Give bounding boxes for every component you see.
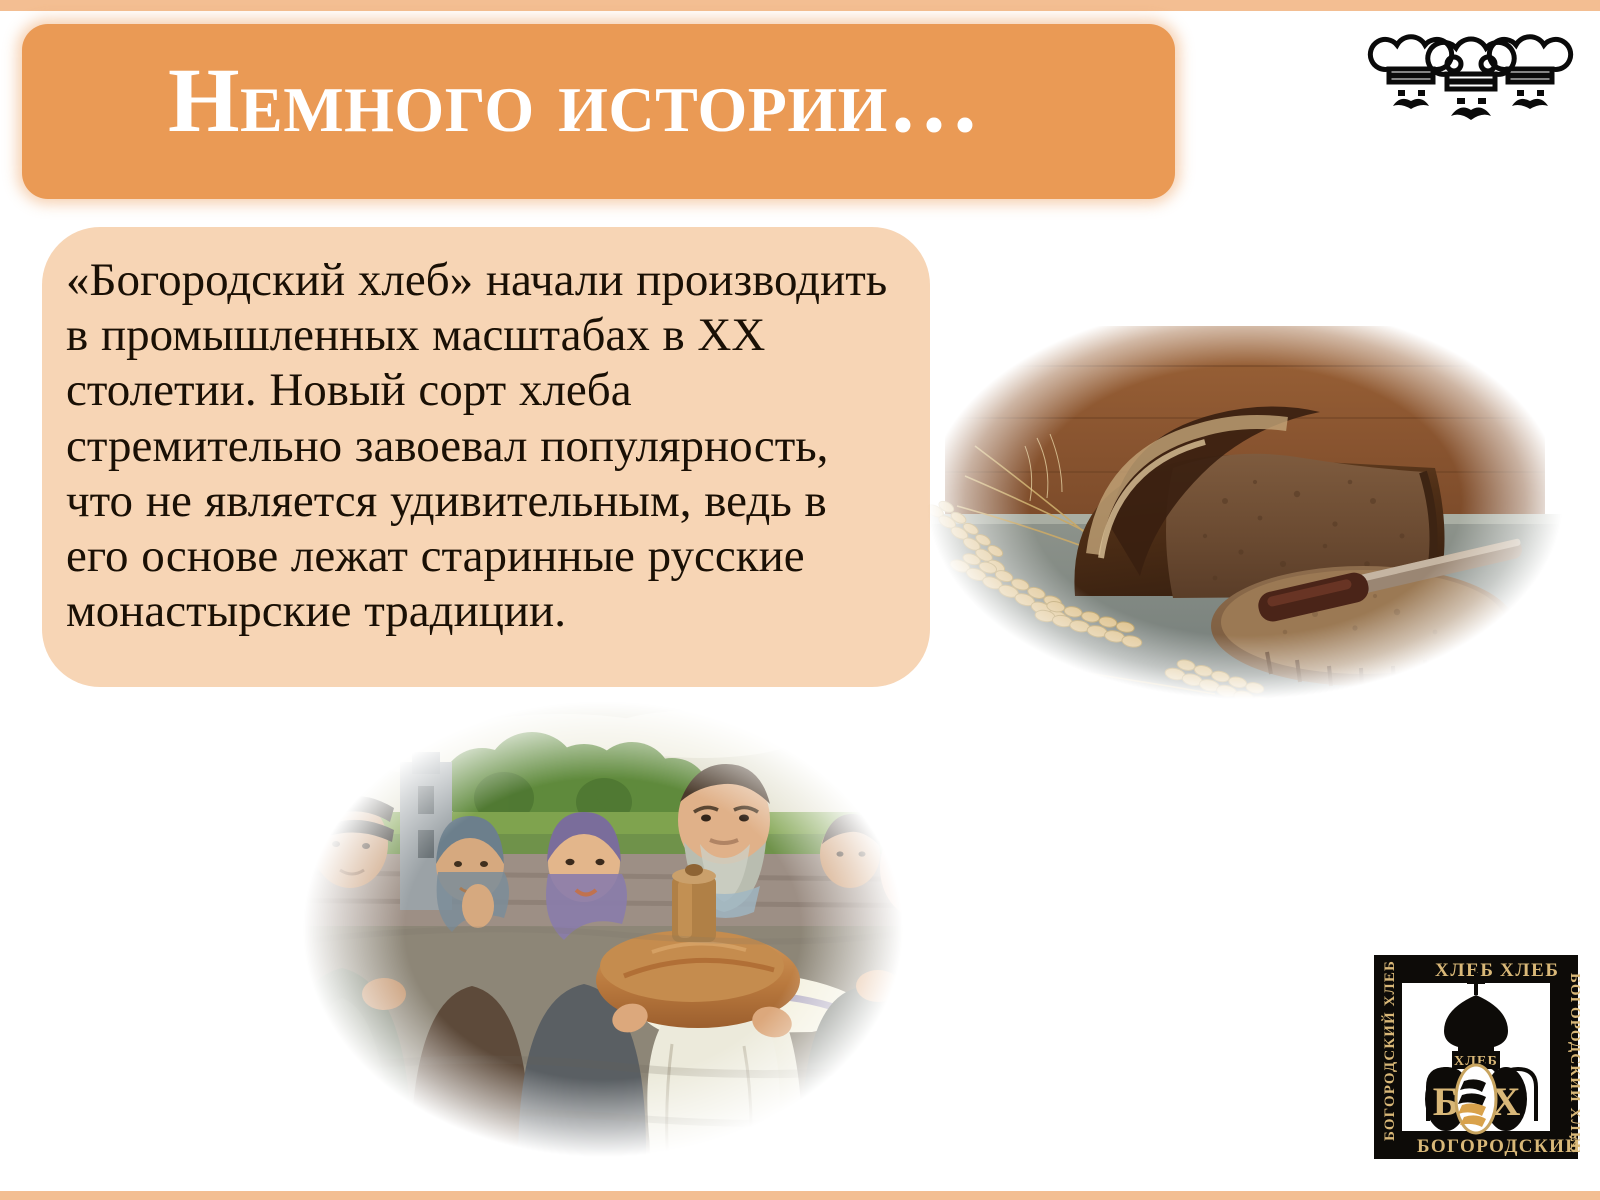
bottom-accent-strip — [0, 1191, 1600, 1200]
logo-left-side-word: БОГОРОДСКИЙ ХЛЕБ — [1381, 960, 1398, 1141]
painting-photo — [232, 694, 974, 1164]
logo-right-side-word: БОГОРОДСКИЙ ХЛЕБ — [1567, 973, 1580, 1154]
top-accent-strip — [0, 0, 1600, 11]
bread-photo — [905, 296, 1585, 706]
logo-bottom-word: БОГОРОДСКИЙ — [1417, 1135, 1580, 1157]
body-paragraph: «Богородский хлеб» начали производить в … — [66, 253, 900, 640]
logo-top-right-word: ХЛЕБ — [1500, 960, 1560, 981]
brand-logo: ХЛЕБ ХЛЕБ БОГОРОДСКИЙ БОГОРОДСКИЙ ХЛЕБ Б… — [1372, 953, 1580, 1161]
logo-top-left-word: ХЛЕБ — [1435, 960, 1495, 981]
chef-hats-icon — [1363, 22, 1578, 142]
page-title: Немного истории… — [168, 52, 1148, 150]
body-text-card: «Богородский хлеб» начали производить в … — [42, 227, 930, 687]
slide-root: Немного истории… — [0, 0, 1600, 1200]
